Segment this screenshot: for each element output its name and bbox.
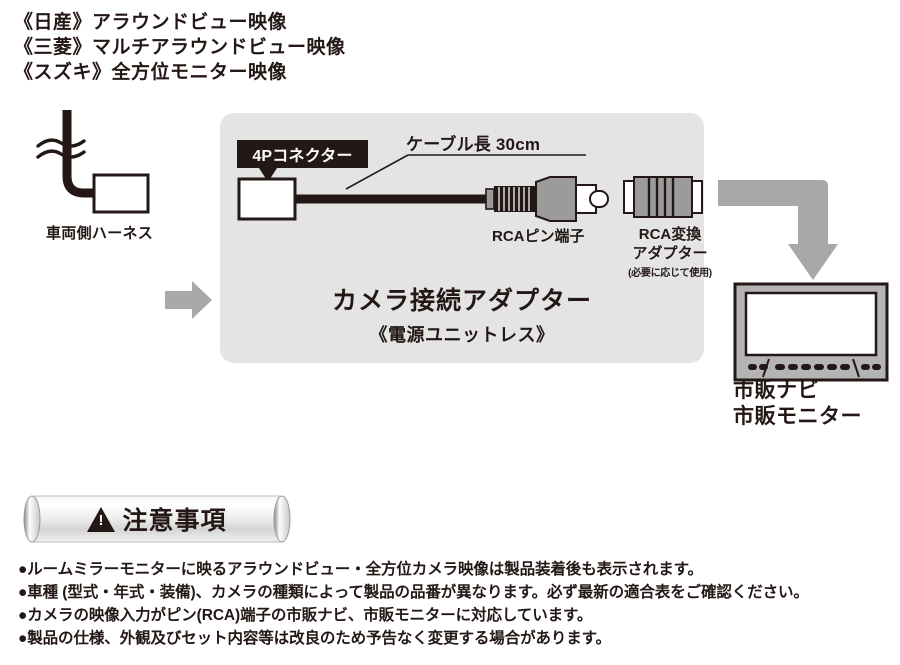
product-name-block: カメラ接続アダプター 《電源ユニットレス》	[220, 281, 704, 347]
note-item: ●カメラの映像入力がピン(RCA)端子の市販ナビ、市販モニターに対応しています。	[18, 604, 888, 627]
vehicle-harness-group: 車両側ハーネス	[30, 110, 210, 255]
aftermarket-monitor-illustration	[733, 282, 889, 382]
rca-adapter-caption-line1: RCA変換	[624, 225, 716, 244]
warning-banner: 注意事項	[22, 494, 292, 544]
product-subtitle: 《電源ユニットレス》	[220, 321, 704, 347]
rca-adapter-caption: RCA変換 アダプター (必要に応じて使用)	[624, 225, 716, 283]
flow-arrow-down-icon	[718, 180, 838, 290]
warning-banner-content: 注意事項	[22, 494, 292, 544]
note-item: ●車種 (型式・年式・装備)、カメラの種類によって製品の品番が異なります。必ず最…	[18, 581, 888, 604]
note-item: ●製品の仕様、外観及びセット内容等は改良のため予告なく変更する場合があります。	[18, 627, 888, 650]
title-line-nissan: 《日産》アラウンドビュー映像	[14, 10, 574, 35]
rca-pin-caption: RCAピン端子	[492, 225, 585, 246]
product-diagram: 車両側ハーネス 4Pコネクター ケーブル長 30cm	[0, 100, 900, 460]
monitor-label-line1: 市販ナビ	[733, 378, 899, 404]
note-item: ●ルームミラーモニターに映るアラウンドビュー・全方位カメラ映像は製品装着後も表示…	[18, 558, 888, 581]
title-line-mitsubishi: 《三菱》マルチアラウンドビュー映像	[14, 35, 574, 60]
warning-triangle-icon	[87, 507, 115, 532]
flow-arrow-right-icon	[165, 278, 213, 322]
monitor-label-line2: 市販モニター	[733, 404, 899, 430]
title-line-suzuki: 《スズキ》全方位モニター映像	[14, 60, 574, 85]
harness-label: 車両側ハーネス	[46, 222, 153, 243]
rca-adapter-caption-line2: アダプター	[624, 244, 716, 263]
product-name: カメラ接続アダプター	[220, 281, 704, 317]
warning-banner-title: 注意事項	[122, 501, 226, 537]
warning-notes-list: ●ルームミラーモニターに映るアラウンドビュー・全方位カメラ映像は製品装着後も表示…	[18, 558, 888, 650]
page-title: 《日産》アラウンドビュー映像 《三菱》マルチアラウンドビュー映像 《スズキ》全方…	[14, 10, 574, 85]
monitor-label: 市販ナビ 市販モニター	[733, 378, 899, 430]
adapter-panel: 4Pコネクター ケーブル長 30cm	[220, 113, 704, 363]
